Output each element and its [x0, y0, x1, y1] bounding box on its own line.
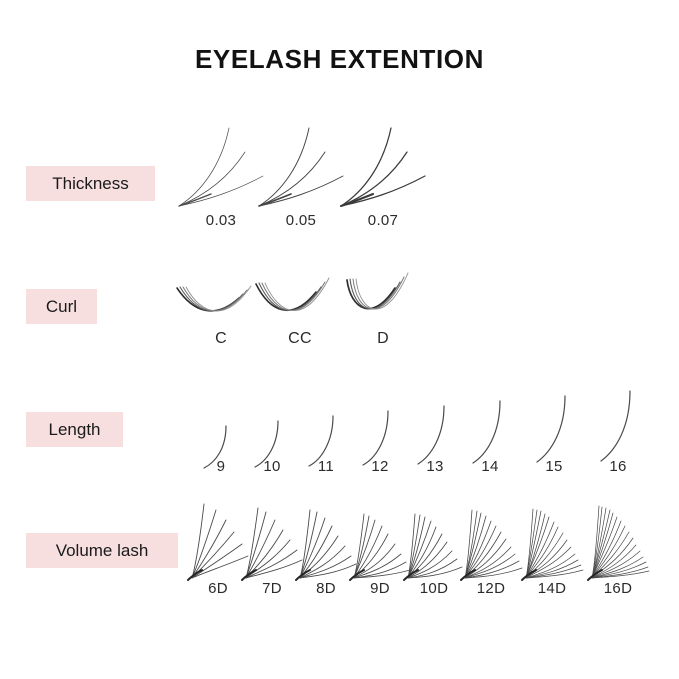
thickness-caption-2: 0.07 — [333, 212, 433, 229]
length-caption-0: 9 — [192, 458, 250, 475]
lash-art-volume-16d — [586, 504, 650, 580]
volume-sample-5: 12D — [459, 508, 523, 602]
page-title: EYELASH EXTENTION — [0, 44, 679, 75]
lash-art-volume-12d — [459, 508, 523, 580]
length-caption-4: 13 — [406, 458, 464, 475]
lash-art-length-14 — [469, 398, 513, 465]
length-sample-3: 12 — [351, 396, 409, 482]
length-sample-6: 15 — [525, 390, 583, 482]
length-sample-4: 13 — [406, 394, 464, 482]
length-caption-5: 14 — [461, 458, 519, 475]
volume-sample-4: 10D — [402, 512, 466, 602]
lash-art-curl-d — [333, 262, 433, 327]
eyelash-extension-chart: EYELASH EXTENTION Thickness 0.03 — [0, 0, 679, 679]
lash-art-thickness-007 — [333, 122, 433, 212]
row-label-volume-lash: Volume lash — [26, 533, 178, 568]
length-sample-1: 10 — [243, 400, 301, 482]
lash-art-volume-14d — [520, 506, 584, 580]
length-caption-1: 10 — [243, 458, 301, 475]
row-label-thickness: Thickness — [26, 166, 155, 201]
row-label-curl: Curl — [26, 289, 97, 324]
length-sample-7: 16 — [589, 388, 647, 482]
volume-sample-6: 14D — [520, 506, 584, 602]
volume-sample-7: 16D — [586, 504, 650, 602]
length-caption-6: 15 — [525, 458, 583, 475]
length-caption-7: 16 — [589, 458, 647, 475]
thickness-sample-2: 0.07 — [333, 122, 433, 232]
volume-caption-4: 10D — [402, 580, 466, 597]
length-caption-3: 12 — [351, 458, 409, 475]
volume-caption-7: 16D — [586, 580, 650, 597]
lash-art-length-15 — [533, 394, 577, 464]
length-sample-2: 11 — [297, 398, 355, 482]
row-label-length: Length — [26, 412, 123, 447]
lash-art-length-13 — [414, 402, 458, 466]
volume-caption-5: 12D — [459, 580, 523, 597]
volume-caption-6: 14D — [520, 580, 584, 597]
lash-art-volume-10d — [402, 512, 466, 580]
curl-sample-2: D — [333, 262, 433, 357]
lash-art-length-16 — [597, 390, 641, 463]
length-sample-0: 9 — [192, 402, 250, 482]
length-sample-5: 14 — [461, 392, 519, 482]
curl-caption-2: D — [333, 330, 433, 348]
length-caption-2: 11 — [297, 458, 355, 475]
